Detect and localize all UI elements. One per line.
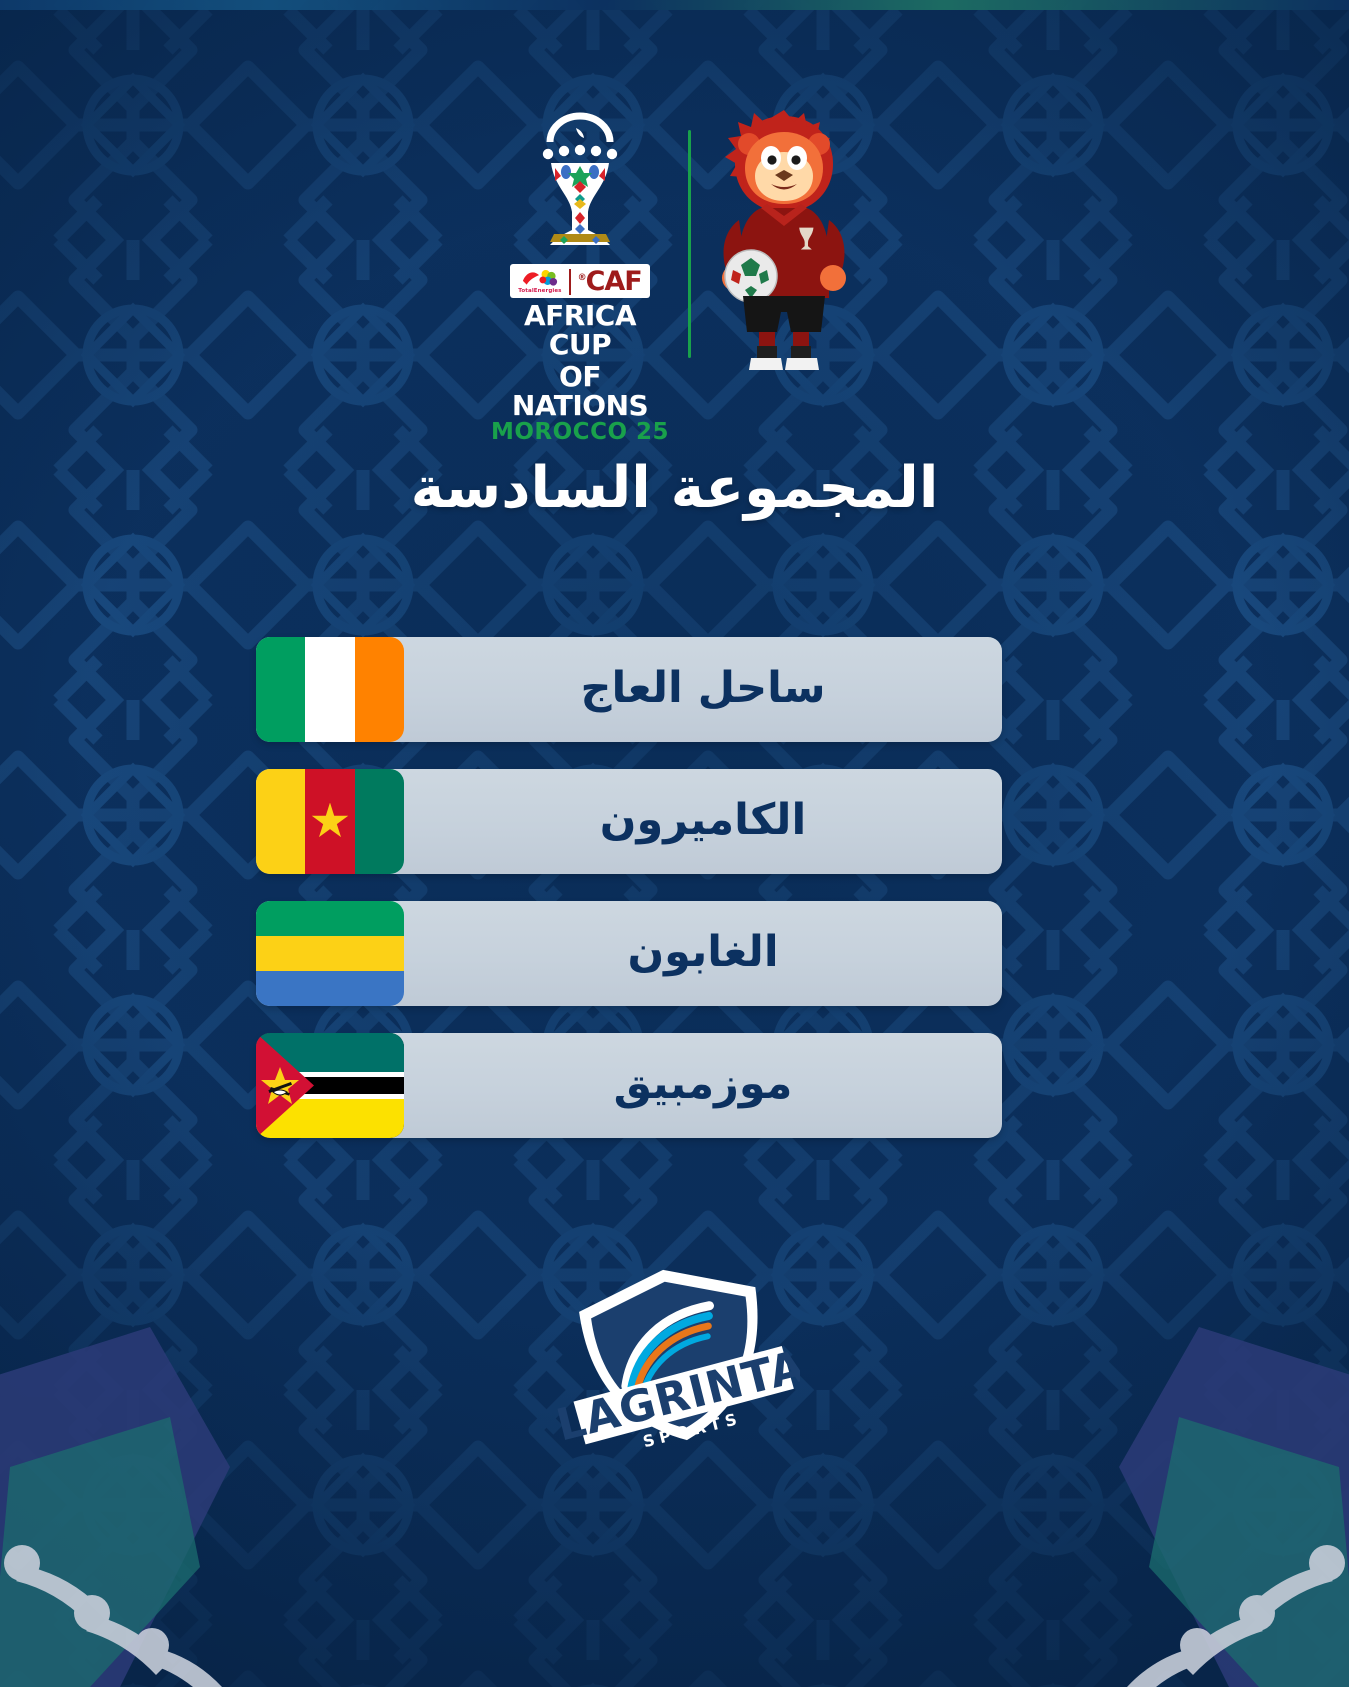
lagrinta-shield-icon: LAGRINTA SPORTS bbox=[550, 1255, 800, 1455]
team-name: الكاميرون bbox=[404, 769, 1002, 874]
flag-mozambique bbox=[256, 1033, 404, 1138]
lion-mascot-icon bbox=[709, 108, 859, 378]
top-accent-strip bbox=[0, 0, 1349, 10]
tournament-host-year: MOROCCO 25 bbox=[491, 420, 669, 444]
team-row[interactable]: الغابون bbox=[256, 901, 1002, 1006]
flag-cameroon bbox=[256, 769, 404, 874]
team-name: الغابون bbox=[404, 901, 1002, 1006]
team-row[interactable]: ساحل العاج bbox=[256, 637, 1002, 742]
registered-mark: ® bbox=[578, 273, 586, 283]
tournament-title-line-2: OF NATIONS bbox=[490, 363, 670, 420]
flag-ivory-coast bbox=[256, 637, 404, 742]
team-row[interactable]: الكاميرون bbox=[256, 769, 1002, 874]
group-title: المجموعة السادسة bbox=[0, 455, 1349, 521]
header-logos: CAF® TotalEnergies AFRICA CUP OF NATIONS bbox=[0, 108, 1349, 444]
flag-gabon bbox=[256, 901, 404, 1006]
totalenergies-logo: TotalEnergies bbox=[518, 268, 561, 295]
totalenergies-mark-icon bbox=[521, 268, 559, 288]
caf-tournament-logo: CAF® TotalEnergies AFRICA CUP OF NATIONS bbox=[490, 108, 670, 444]
teams-list: ساحل العاج الكاميرون bbox=[256, 637, 1002, 1138]
caf-sponsor-lockup: CAF® TotalEnergies bbox=[510, 264, 649, 298]
lockup-divider bbox=[569, 269, 571, 295]
caf-wordmark: CAF® bbox=[578, 268, 642, 295]
poster-canvas: CAF® TotalEnergies AFRICA CUP OF NATIONS bbox=[0, 0, 1349, 1687]
team-name: موزمبيق bbox=[404, 1033, 1002, 1138]
caf-trophy-icon bbox=[524, 108, 636, 258]
footer-brand-logo: LAGRINTA SPORTS bbox=[0, 1255, 1349, 1455]
star-icon bbox=[311, 803, 349, 841]
totalenergies-wordmark: TotalEnergies bbox=[518, 289, 561, 295]
mozambique-emblem-icon bbox=[260, 1066, 300, 1106]
team-name: ساحل العاج bbox=[404, 637, 1002, 742]
vertical-divider-icon bbox=[688, 130, 691, 358]
team-row[interactable]: موزمبيق bbox=[256, 1033, 1002, 1138]
tournament-title-line-1: AFRICA CUP bbox=[490, 302, 670, 359]
